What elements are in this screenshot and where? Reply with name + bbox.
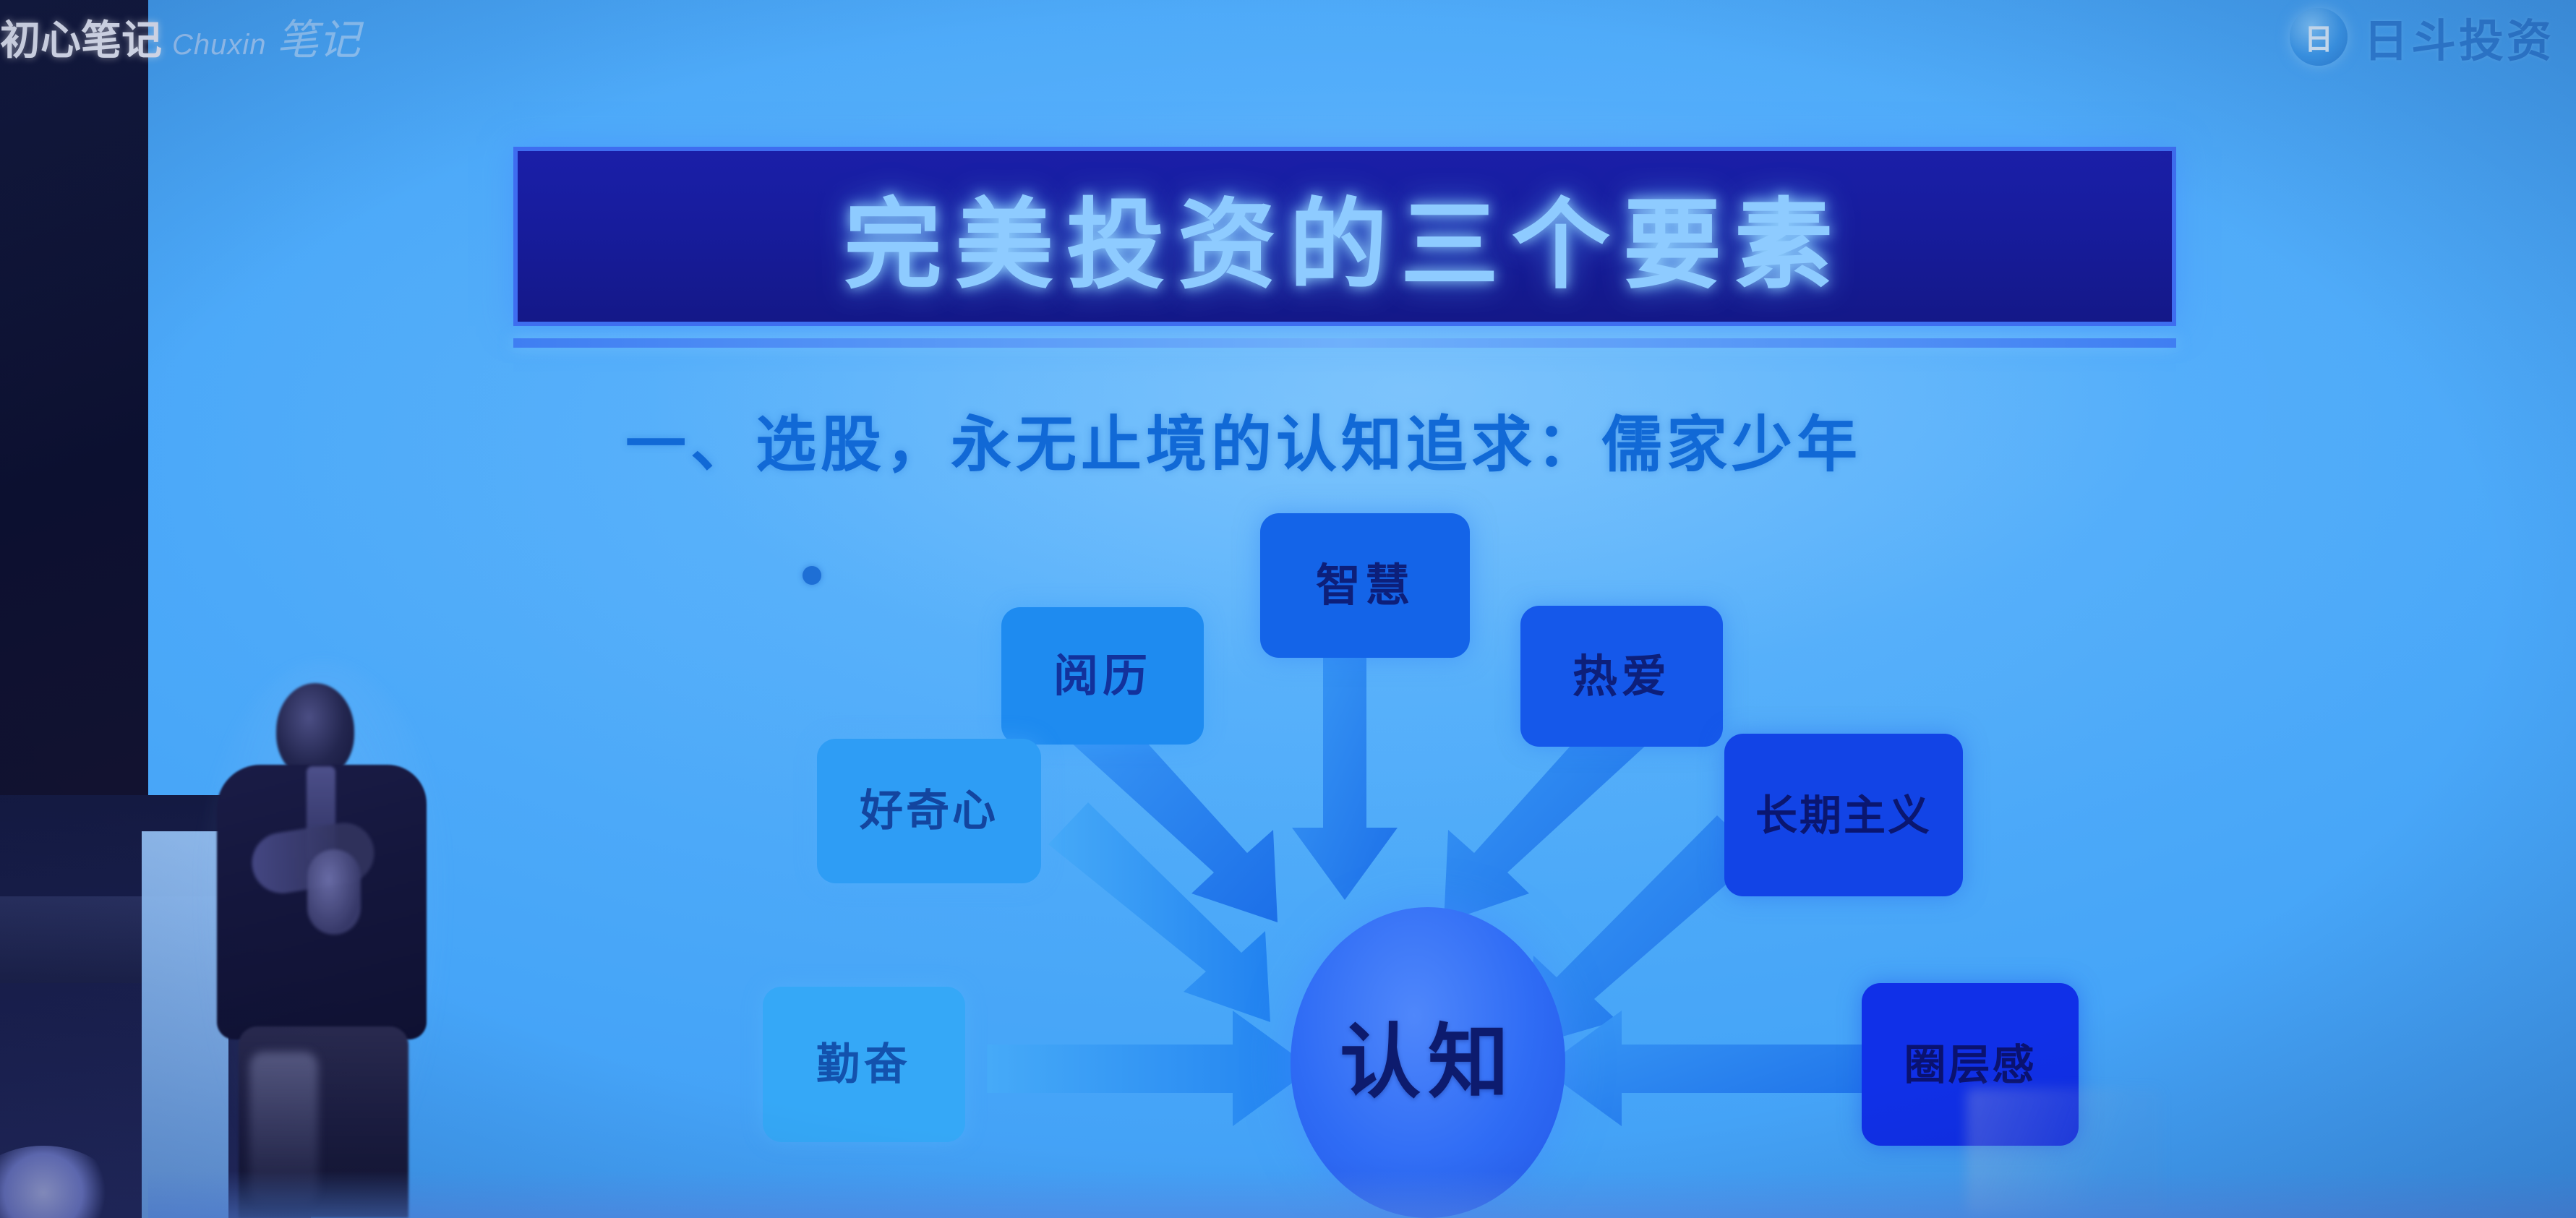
brand-name: 日斗投资 <box>2363 4 2554 69</box>
diagram-node-qinfen[interactable]: 勤奋 <box>763 987 965 1142</box>
diagram-node-label: 勤奋 <box>816 1043 912 1086</box>
slide-content: 完美投资的三个要素 一、选股，永无止境的认知追求：儒家少年 <box>148 0 2576 1218</box>
watermark-left-cjk: 初心笔记 <box>0 8 162 67</box>
diagram-node-reai[interactable]: 热爱 <box>1520 606 1723 747</box>
diagram-node-yueli[interactable]: 阅历 <box>1001 607 1204 745</box>
diagram-node-haoqixin[interactable]: 好奇心 <box>817 739 1041 883</box>
presenter-leg-highlight <box>249 1052 318 1204</box>
diagram-node-label: 圈层感 <box>1904 1044 2036 1086</box>
watermark-right-logo: 日 日斗投资 <box>2290 4 2554 69</box>
diagram-node-label: 热爱 <box>1572 654 1671 699</box>
diagram-node-zhihui[interactable]: 智慧 <box>1260 513 1470 658</box>
presenter-hand-microphone <box>307 849 361 935</box>
diagram-node-label: 长期主义 <box>1755 794 1932 836</box>
watermark-left-script: 笔记 <box>277 6 361 67</box>
projected-slide-photo: 完美投资的三个要素 一、选股，永无止境的认知追求：儒家少年 <box>0 0 2576 1218</box>
arrow-haoqixin-to-renzhi <box>1048 802 1270 1022</box>
screen-reflection <box>1967 1088 2162 1214</box>
watermark-left: 初心笔记 Chuxin 笔记 <box>0 6 361 67</box>
diagram-node-label: 智慧 <box>1316 563 1414 608</box>
arrow-zhihui-to-renzhi <box>1292 654 1398 900</box>
watermark-left-latin: Chuxin <box>172 29 267 61</box>
diagram-node-label: 好奇心 <box>860 789 998 833</box>
arrow-qinfen-to-renzhi <box>987 1011 1312 1126</box>
brand-badge-glyph: 日 <box>2304 16 2333 58</box>
brand-badge-icon: 日 <box>2290 8 2348 66</box>
diagram-node-changqizhuyi[interactable]: 长期主义 <box>1724 734 1963 896</box>
cognition-diagram: 阅历 智慧 热爱 好奇心 长期主义 勤奋 <box>148 0 2576 1218</box>
diagram-center-label: 认知 <box>1340 1022 1516 1103</box>
diagram-center-node-renzhi[interactable]: 认知 <box>1291 907 1565 1218</box>
diagram-node-label: 阅历 <box>1053 653 1152 698</box>
